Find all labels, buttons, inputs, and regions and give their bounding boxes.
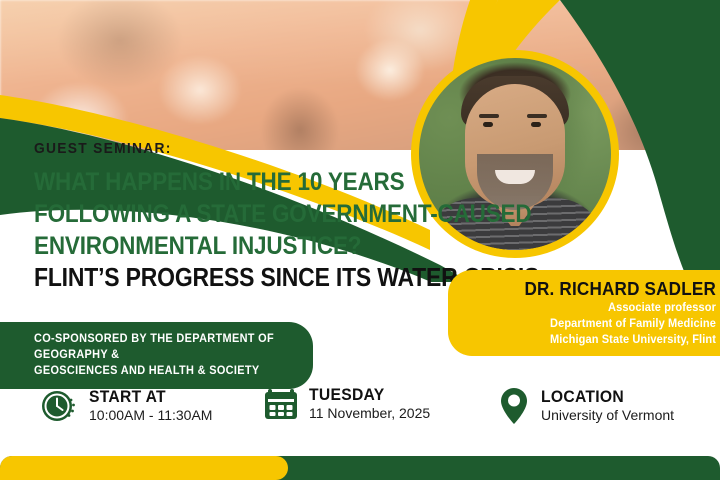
photo-eye-right	[531, 122, 541, 127]
info-value-location: University of Vermont	[541, 408, 674, 424]
event-poster: GUEST SEMINAR: WHAT HAPPENS IN THE 10 YE…	[0, 0, 720, 480]
info-item-location: LOCATION University of Vermont	[498, 386, 674, 426]
eyebrow-label: GUEST SEMINAR:	[34, 140, 172, 157]
cosponsor-line-2: GEOSCIENCES AND HEALTH & SOCIETY	[34, 363, 274, 379]
speaker-department: Department of Family Medicine	[459, 316, 716, 332]
title-line-3: ENVIRONMENTAL INJUSTICE?	[34, 230, 412, 262]
info-item-date: TUESDAY 11 November, 2025	[264, 386, 430, 422]
speaker-role: Associate professor	[459, 300, 716, 316]
info-value-time: 10:00AM - 11:30AM	[89, 408, 212, 424]
cosponsor-line-1: CO-SPONSORED BY THE DEPARTMENT OF GEOGRA…	[34, 331, 274, 363]
photo-eye-left	[483, 122, 493, 127]
info-value-date: 11 November, 2025	[309, 406, 430, 422]
info-title-time: START AT	[89, 388, 206, 406]
cosponsor-banner: CO-SPONSORED BY THE DEPARTMENT OF GEOGRA…	[0, 322, 313, 389]
calendar-icon	[264, 386, 298, 422]
info-item-time: START AT 10:00AM - 11:30AM	[38, 386, 212, 426]
clock-icon	[38, 386, 78, 426]
speaker-badge: DR. RICHARD SADLER Associate professor D…	[448, 270, 720, 356]
info-title-location: LOCATION	[541, 388, 667, 406]
event-info-bar: START AT 10:00AM - 11:30AM	[0, 386, 720, 446]
page-title: WHAT HAPPENS IN THE 10 YEARS FOLLOWING A…	[34, 166, 454, 294]
photo-brow-left	[479, 114, 499, 118]
map-pin-icon	[498, 386, 530, 426]
speaker-affiliation: Michigan State University, Flint	[459, 332, 716, 348]
info-title-date: TUESDAY	[309, 386, 424, 404]
speaker-name: DR. RICHARD SADLER	[461, 279, 716, 300]
title-line-1: WHAT HAPPENS IN THE 10 YEARS	[34, 166, 412, 198]
title-line-4: FLINT’S PROGRESS SINCE ITS WATER CRISIS	[34, 262, 412, 294]
bottom-bar-yellow	[0, 456, 288, 480]
photo-brow-right	[527, 114, 547, 118]
title-line-2: FOLLOWING A STATE GOVERNMENT-CAUSED	[34, 198, 412, 230]
